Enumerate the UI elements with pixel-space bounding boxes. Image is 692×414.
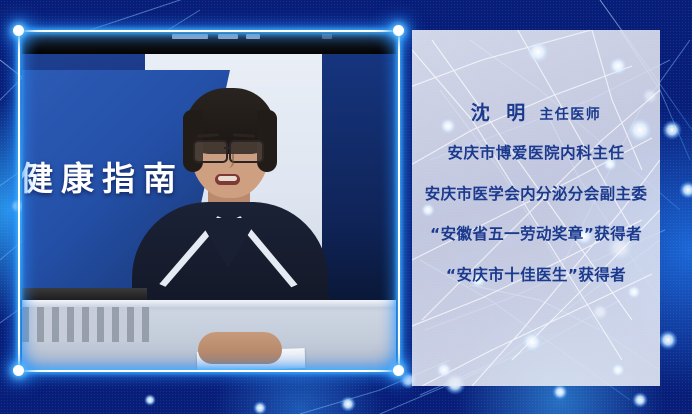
video-feed-panel[interactable]: 健康指南 <box>22 32 396 370</box>
frame-node-bottom-right <box>393 365 404 376</box>
folded-hands <box>198 332 282 364</box>
frame-node-top-left <box>13 25 24 36</box>
credential-line-3: “安徽省五一劳动奖章”获得者 <box>412 222 660 244</box>
broadcast-screen: 健康指南 <box>0 0 692 414</box>
credential-line-4: “安庆市十佳医生”获得者 <box>412 263 660 285</box>
frame-node-bottom-left <box>13 365 24 376</box>
studio-ceiling-band <box>22 32 396 54</box>
eyeglasses-right-lens <box>229 140 264 163</box>
frame-node-top-right <box>393 25 404 36</box>
eyeglasses-left-lens <box>193 140 228 163</box>
guest-rank: 主任医师 <box>539 107 601 123</box>
guest-name: 沈 明 <box>471 102 531 124</box>
credential-line-2: 安庆市医学会内分泌分会副主委 <box>412 182 660 204</box>
studio-right-wall <box>322 54 396 300</box>
credential-line-1: 安庆市博爱医院内科主任 <box>412 141 660 163</box>
guest-info-panel: 沈 明主任医师 安庆市博爱医院内科主任 安庆市医学会内分泌分会副主委 “安徽省五… <box>412 30 660 386</box>
guest-name-line: 沈 明主任医师 <box>412 98 660 125</box>
